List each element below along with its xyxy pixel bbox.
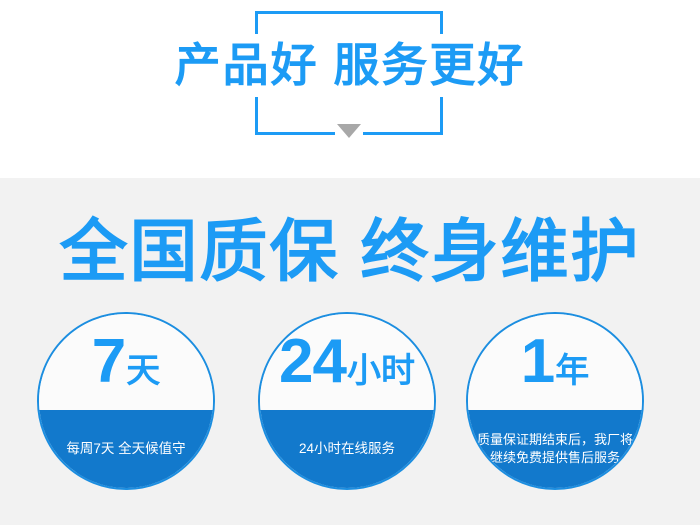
badge-unit: 小时 [347,354,415,388]
down-triangle-icon [337,124,361,138]
badge-number: 7 [92,331,125,393]
badge-value-24-hours: 24小时 [279,331,415,393]
badge-top-24-hours: 24小时 [260,314,434,410]
frame-border-bottom-left [255,132,335,135]
page-title: 全国质保 终身维护 [0,212,700,292]
badge-band-24-hours: 24小时在线服务 [260,410,434,488]
frame-border-top [255,11,443,14]
badge-caption: 质量保证期结束后，我厂将继续免费提供售后服务 [472,431,638,467]
badge-band-7-days: 每周7天 全天候值守 [39,410,213,488]
frame-border-bottom-right [363,132,443,135]
badge-band-1-year: 质量保证期结束后，我厂将继续免费提供售后服务 [468,410,642,488]
promo-banner: 产品好 服务更好 全国质保 终身维护 7天 每周7天 全天候值守 24小时 [0,0,700,525]
badge-24-hours: 24小时 24小时在线服务 [258,312,436,490]
badge-top-1-year: 1年 [468,314,642,410]
header-section: 产品好 服务更好 [0,0,700,178]
badge-list: 7天 每周7天 全天候值守 24小时 24小时在线服务 [0,312,700,512]
header-slogan: 产品好 服务更好 [0,34,700,96]
frame-border-left-bottom [255,97,258,135]
frame-border-right-bottom [440,97,443,135]
badge-top-7-days: 7天 [39,314,213,410]
badge-unit: 天 [126,354,160,388]
badge-value-7-days: 7天 [92,331,160,393]
badge-1-year: 1年 质量保证期结束后，我厂将继续免费提供售后服务 [466,312,644,490]
badge-number: 1 [521,331,554,393]
badge-caption: 每周7天 全天候值守 [66,439,185,458]
badge-7-days: 7天 每周7天 全天候值守 [37,312,215,490]
badge-value-1-year: 1年 [521,331,589,393]
main-section: 全国质保 终身维护 7天 每周7天 全天候值守 24小时 [0,178,700,525]
badge-caption: 24小时在线服务 [299,439,395,458]
badge-unit: 年 [555,354,589,388]
badge-number: 24 [279,331,346,393]
